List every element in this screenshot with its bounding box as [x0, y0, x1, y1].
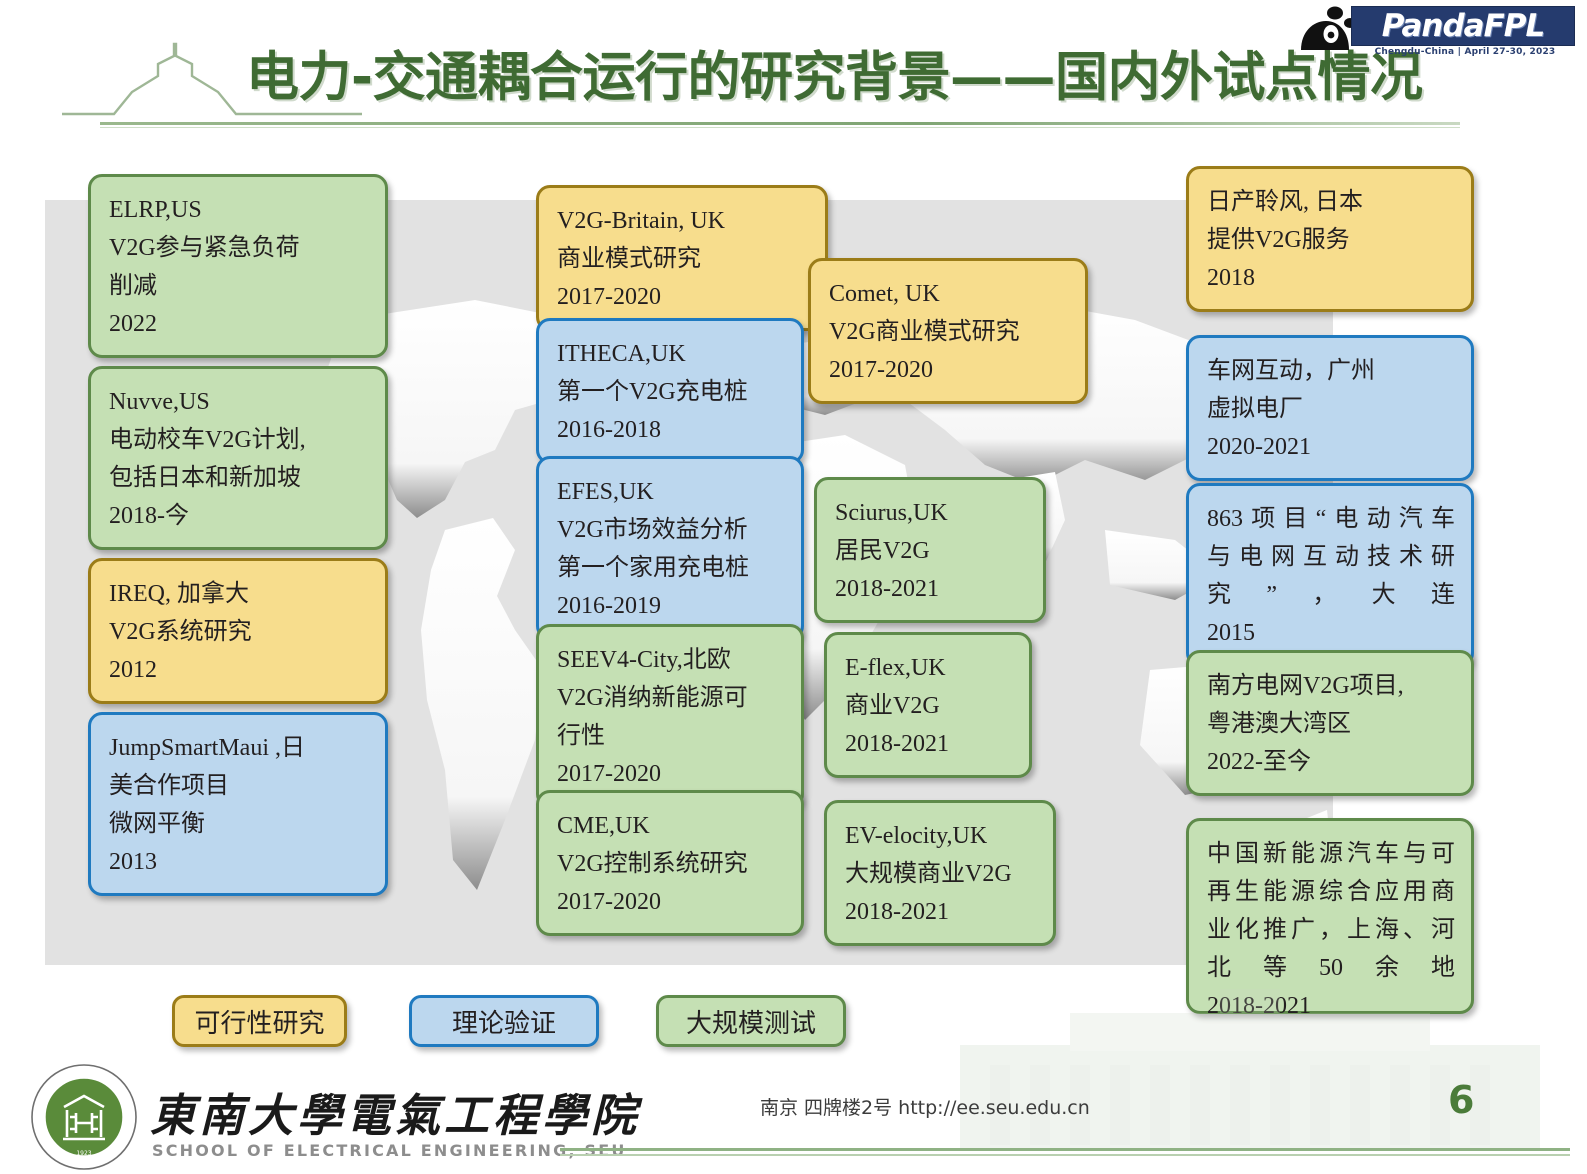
- project-card-csg-v2g[interactable]: 南方电网V2G项目,粤港澳大湾区2022-至今: [1186, 650, 1474, 796]
- project-card-ireq[interactable]: IREQ, 加拿大V2G系统研究2012: [88, 558, 388, 704]
- card-line: 2018-2021: [845, 893, 1037, 931]
- page-number: 6: [1448, 1078, 1474, 1122]
- project-card-elrp[interactable]: ELRP,USV2G参与紧急负荷削减2022: [88, 174, 388, 358]
- card-line: 2017-2020: [829, 351, 1069, 389]
- card-line: V2G消纳新能源可: [557, 679, 785, 717]
- card-line: 与电网互动技术研: [1207, 538, 1455, 576]
- logo-plate: PandaFPL: [1351, 6, 1575, 46]
- card-line: Nuvve,US: [109, 383, 369, 421]
- card-line: Comet, UK: [829, 275, 1069, 313]
- card-line: 电动校车V2G计划,: [109, 421, 369, 459]
- slide-canvas: 电力-交通耦合运行的研究背景——国内外试点情况 PandaFPL Chengdu…: [0, 0, 1587, 1174]
- card-line: 第一个家用充电桩: [557, 549, 785, 587]
- card-line: 车网互动，广州: [1207, 352, 1455, 390]
- project-card-nuvve[interactable]: Nuvve,US电动校车V2G计划,包括日本和新加坡2018-今: [88, 366, 388, 550]
- legend-label: 理论验证: [452, 1003, 556, 1040]
- card-line: 业化推广，上海、河: [1207, 911, 1455, 949]
- card-line: IREQ, 加拿大: [109, 575, 369, 613]
- legend-label: 可行性研究: [194, 1003, 324, 1040]
- footer-rule-secondary: [560, 1154, 1570, 1156]
- card-line: 2022: [109, 305, 369, 343]
- card-line: 商业V2G: [845, 687, 1013, 725]
- card-line: SEEV4-City,北欧: [557, 641, 785, 679]
- seu-emblem-icon: 1923: [30, 1063, 138, 1171]
- card-line: 2018: [1207, 259, 1455, 297]
- card-line: EV-elocity,UK: [845, 817, 1037, 855]
- card-line: 再生能源综合应用商: [1207, 873, 1455, 911]
- card-line: ELRP,US: [109, 191, 369, 229]
- title-underline: [100, 122, 1460, 125]
- project-card-gz-vpp[interactable]: 车网互动，广州虚拟电厂2020-2021: [1186, 335, 1474, 481]
- card-line: 2017-2020: [557, 278, 809, 316]
- project-card-v2g-britain[interactable]: V2G-Britain, UK商业模式研究2017-2020: [536, 185, 828, 331]
- card-line: 2018-今: [109, 497, 369, 535]
- card-line: 中国新能源汽车与可: [1207, 835, 1455, 873]
- slide-header: 电力-交通耦合运行的研究背景——国内外试点情况 PandaFPL Chengdu…: [0, 0, 1587, 150]
- project-card-project863[interactable]: 863项目“电动汽车与电网互动技术研究”，大连2015: [1186, 483, 1474, 667]
- footer-address: 南京 四牌楼2号 http://ee.seu.edu.cn: [760, 1093, 1090, 1120]
- school-name-en: SCHOOL OF ELECTRICAL ENGINEERING, SEU: [152, 1141, 627, 1160]
- card-line: E-flex,UK: [845, 649, 1013, 687]
- card-line: 2018-2021: [835, 570, 1027, 608]
- card-line: V2G参与紧急负荷: [109, 229, 369, 267]
- card-line: 2013: [109, 843, 369, 881]
- card-line: 微网平衡: [109, 805, 369, 843]
- legend-label: 大规模测试: [686, 1003, 816, 1040]
- legend-item-large-scale-test[interactable]: 大规模测试: [656, 995, 846, 1047]
- project-card-itheca[interactable]: ITHECA,UK第一个V2G充电桩2016-2018: [536, 318, 804, 464]
- card-line: 863项目“电动汽车: [1207, 500, 1455, 538]
- card-line: 包括日本和新加坡: [109, 459, 369, 497]
- school-name-cn: 東南大學電氣工程學院: [150, 1079, 640, 1144]
- card-line: 南方电网V2G项目,: [1207, 667, 1455, 705]
- card-line: EFES,UK: [557, 473, 785, 511]
- card-line: V2G控制系统研究: [557, 845, 785, 883]
- logo-text: PandaFPL: [1382, 8, 1545, 44]
- pandafpl-logo: PandaFPL Chengdu-China | April 27-30, 20…: [1289, 2, 1579, 64]
- project-card-eflex[interactable]: E-flex,UK商业V2G2018-2021: [824, 632, 1032, 778]
- logo-subtitle: Chengdu-China | April 27-30, 2023: [1353, 47, 1577, 57]
- card-line: V2G商业模式研究: [829, 313, 1069, 351]
- card-line: 美合作项目: [109, 767, 369, 805]
- card-line: 日产聆风, 日本: [1207, 183, 1455, 221]
- card-line: V2G-Britain, UK: [557, 202, 809, 240]
- card-line: 2020-2021: [1207, 428, 1455, 466]
- card-line: 究”，大连: [1207, 576, 1455, 614]
- project-card-nissan-leaf[interactable]: 日产聆风, 日本提供V2G服务2018: [1186, 166, 1474, 312]
- project-card-comet[interactable]: Comet, UKV2G商业模式研究2017-2020: [808, 258, 1088, 404]
- card-line: V2G市场效益分析: [557, 511, 785, 549]
- card-line: JumpSmartMaui ,日: [109, 729, 369, 767]
- legend-item-theory-validation[interactable]: 理论验证: [409, 995, 599, 1047]
- card-line: CME,UK: [557, 807, 785, 845]
- card-line: 行性: [557, 717, 785, 755]
- card-line: Sciurus,UK: [835, 494, 1027, 532]
- card-line: 粤港澳大湾区: [1207, 705, 1455, 743]
- card-line: 2012: [109, 651, 369, 689]
- svg-text:1923: 1923: [76, 1150, 91, 1157]
- title-underline-secondary: [100, 127, 1460, 128]
- card-line: 第一个V2G充电桩: [557, 373, 785, 411]
- card-line: 2018-2021: [845, 725, 1013, 763]
- card-line: 大规模商业V2G: [845, 855, 1037, 893]
- card-line: 2016-2018: [557, 411, 785, 449]
- card-line: 削减: [109, 267, 369, 305]
- card-line: 北等50余地: [1207, 949, 1455, 987]
- card-line: ITHECA,UK: [557, 335, 785, 373]
- card-line: 居民V2G: [835, 532, 1027, 570]
- legend-item-feasibility[interactable]: 可行性研究: [172, 995, 347, 1047]
- project-card-jumpsmart[interactable]: JumpSmartMaui ,日美合作项目微网平衡2013: [88, 712, 388, 896]
- card-line: 2015: [1207, 614, 1455, 652]
- project-card-sciurus[interactable]: Sciurus,UK居民V2G2018-2021: [814, 477, 1046, 623]
- project-card-seev4city[interactable]: SEEV4-City,北欧V2G消纳新能源可行性2017-2020: [536, 624, 804, 808]
- card-line: 2022-至今: [1207, 743, 1455, 781]
- page-title: 电力-交通耦合运行的研究背景——国内外试点情况: [246, 47, 1423, 109]
- card-line: 虚拟电厂: [1207, 390, 1455, 428]
- card-line: 2017-2020: [557, 755, 785, 793]
- card-line: V2G系统研究: [109, 613, 369, 651]
- footer-rule: [560, 1148, 1570, 1151]
- card-line: 提供V2G服务: [1207, 221, 1455, 259]
- card-line: 2017-2020: [557, 883, 785, 921]
- card-line: 商业模式研究: [557, 240, 809, 278]
- project-card-evelocity[interactable]: EV-elocity,UK大规模商业V2G2018-2021: [824, 800, 1056, 946]
- card-line: 2016-2019: [557, 587, 785, 625]
- project-card-cme[interactable]: CME,UKV2G控制系统研究2017-2020: [536, 790, 804, 936]
- project-card-efes[interactable]: EFES,UKV2G市场效益分析第一个家用充电桩2016-2019: [536, 456, 804, 640]
